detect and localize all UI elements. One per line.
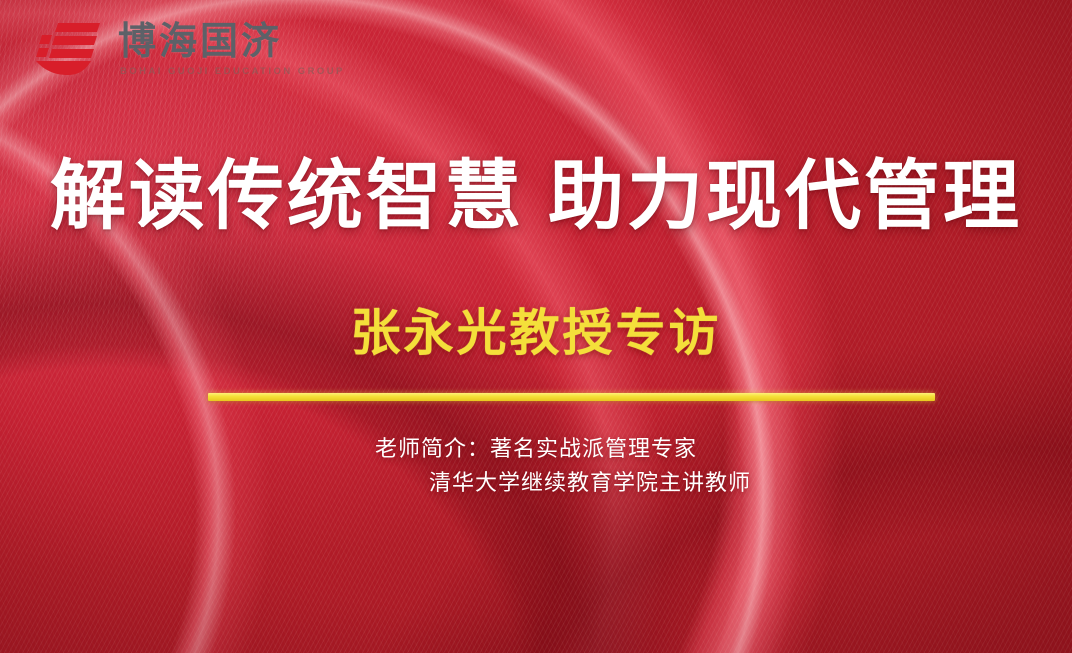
speaker-bio: 老师简介：著名实战派管理专家 清华大学继续教育学院主讲教师 — [0, 432, 1072, 500]
brand-logo-text: 博海国济 BOHAI GUOJI EDUCATION GROUP — [118, 21, 345, 78]
brand-name-cn: 博海国济 — [118, 23, 345, 63]
promo-poster: 博海国济 BOHAI GUOJI EDUCATION GROUP 解读传统智慧 … — [0, 0, 1072, 653]
brand-name-en: BOHAI GUOJI EDUCATION GROUP — [120, 66, 345, 77]
speaker-bio-line-2: 清华大学继续教育学院主讲教师 — [0, 466, 1072, 500]
speaker-bio-line-1: 老师简介：著名实战派管理专家 — [0, 432, 1072, 466]
bohai-book-mark-icon — [28, 18, 106, 80]
brand-logo: 博海国济 BOHAI GUOJI EDUCATION GROUP — [28, 18, 345, 80]
yellow-divider-line — [208, 393, 935, 401]
poster-subtitle: 张永光教授专访 — [0, 305, 1072, 363]
poster-title: 解读传统智慧 助力现代管理 — [0, 152, 1072, 242]
